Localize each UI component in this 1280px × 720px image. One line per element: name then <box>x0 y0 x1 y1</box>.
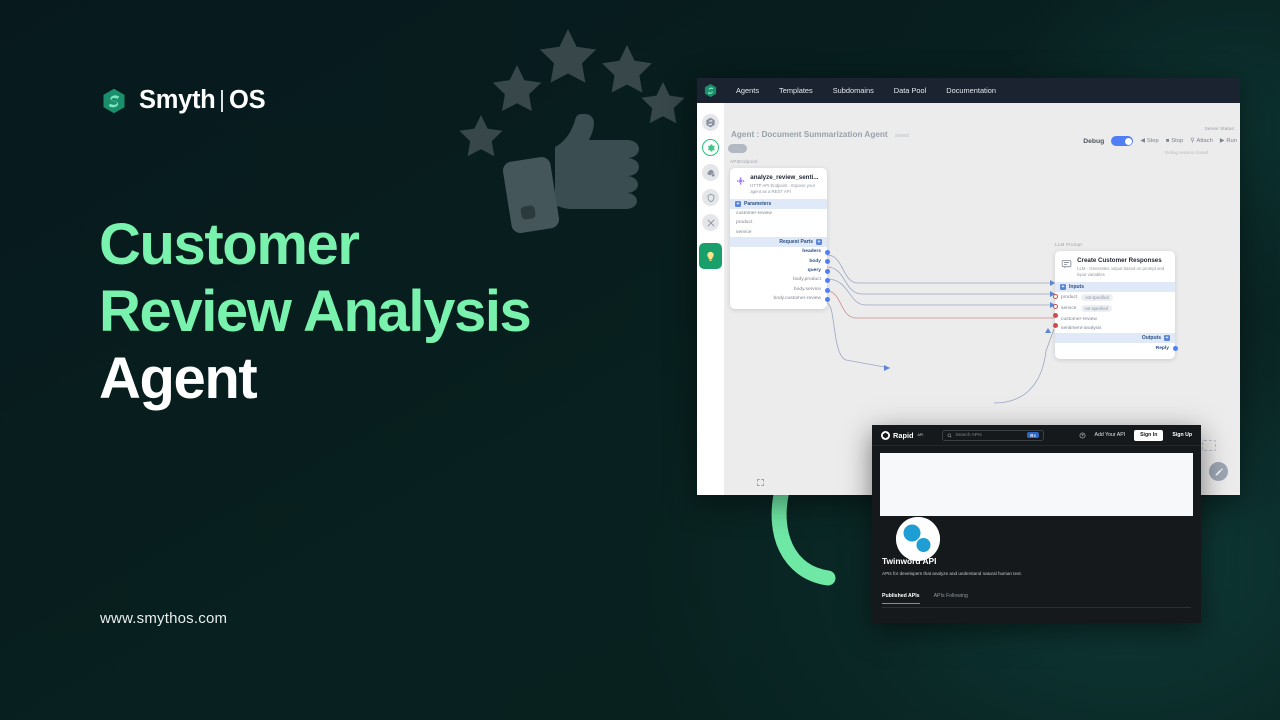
llm-node[interactable]: Create Customer Responses LLM - Generate… <box>1055 251 1175 359</box>
nav-item-documentation[interactable]: Documentation <box>936 86 1006 95</box>
brand-logo-text: Smyth OS <box>139 86 265 115</box>
stop-button[interactable]: ■Stop <box>1166 138 1183 144</box>
brand-logo: Smyth OS <box>100 86 265 115</box>
pen-icon[interactable] <box>1209 462 1228 481</box>
profile-tabs: Published APIs APIs Following <box>882 593 968 604</box>
rail-shield-icon[interactable] <box>702 189 719 206</box>
expand-icon[interactable]: + <box>735 201 741 207</box>
expand-icon[interactable]: + <box>1060 284 1066 290</box>
debug-toolbar: Debug ◀Step ■Stop ⚲Attach ▶Run <box>1083 136 1237 146</box>
rapidapi-logo-icon <box>881 431 890 440</box>
llm-inputs-section[interactable]: + Inputs <box>1055 282 1175 292</box>
search-shortcut-badge: ⌘K <box>1027 432 1040 438</box>
search-placeholder: Search APIs <box>955 433 981 438</box>
endpoint-request-parts-label: Request Parts <box>779 239 813 245</box>
llm-prompt-icon <box>1061 257 1072 271</box>
page-title: Twinword API <box>882 556 936 566</box>
endpoint-part-body-product: body.product <box>730 275 827 284</box>
endpoint-request-parts-section[interactable]: Request Parts + <box>730 237 827 247</box>
tab-apis-following[interactable]: APIs Following <box>934 593 968 604</box>
slide-canvas: Smyth OS Agents <box>0 0 1280 720</box>
page-title: Customer Review Analysis Agent <box>99 212 719 413</box>
endpoint-node-category: APIEndpoint <box>730 159 758 164</box>
endpoint-param-customer-review: customer-review <box>730 209 827 218</box>
port-body-service[interactable] <box>825 288 830 293</box>
port-llm-sentiment[interactable] <box>1053 323 1058 328</box>
tabs-divider <box>882 607 1191 608</box>
headline-line-2: Review Analysis <box>99 279 719 346</box>
expand-icon[interactable]: + <box>816 239 822 245</box>
nav-item-agents[interactable]: Agents <box>726 86 769 95</box>
llm-outputs-section[interactable]: Outputs + <box>1055 333 1175 343</box>
rapidapi-top-nav: Rapid API Search APIs ⌘K Add Your API Si… <box>872 425 1201 446</box>
llm-node-header: Create Customer Responses LLM - Generate… <box>1055 251 1175 282</box>
help-circle-icon[interactable] <box>1079 432 1086 439</box>
server-status-label: Server Status: <box>1205 127 1235 132</box>
llm-input-service: service not specified <box>1055 303 1175 314</box>
brand-name-primary: Smyth <box>139 86 215 115</box>
smythos-logo-icon <box>703 83 718 98</box>
agent-title: Agent : Document Summarization Agent <box>731 130 888 139</box>
port-headers[interactable] <box>825 250 830 255</box>
profile-banner <box>880 453 1193 516</box>
endpoint-part-body-service: body.service <box>730 284 827 293</box>
rapidapi-logo[interactable]: Rapid API <box>881 431 923 440</box>
brand-name-secondary: OS <box>229 86 265 115</box>
rail-cloud-settings-icon[interactable] <box>702 164 719 181</box>
attach-button[interactable]: ⚲Attach <box>1190 138 1213 144</box>
endpoint-part-body-customer-review: body.customer-review <box>730 294 827 303</box>
endpoint-part-headers: headers <box>730 247 827 256</box>
twinword-avatar-icon <box>896 517 940 561</box>
smythos-logo-icon <box>100 87 128 115</box>
llm-input-sentiment-analysis: sentiment-analysis <box>1055 324 1175 333</box>
llm-input-service-badge: not specified <box>1081 305 1113 312</box>
port-query[interactable] <box>825 269 830 274</box>
nav-item-subdomains[interactable]: Subdomains <box>823 86 884 95</box>
expand-icon[interactable]: + <box>1164 335 1170 341</box>
nav-item-templates[interactable]: Templates <box>769 86 823 95</box>
agent-title-bar: Agent : Document Summarization Agent sav… <box>731 130 909 139</box>
endpoint-param-product: product <box>730 218 827 227</box>
endpoint-node-header: analyze_review_senti... HTTP API Endpoin… <box>730 168 827 199</box>
endpoint-parameters-section[interactable]: + Parameters <box>730 199 827 209</box>
search-input[interactable]: Search APIs ⌘K <box>942 430 1044 441</box>
port-llm-customer-review[interactable] <box>1053 313 1058 318</box>
debug-toggle[interactable] <box>1111 136 1133 146</box>
endpoint-node[interactable]: analyze_review_senti... HTTP API Endpoin… <box>730 168 827 309</box>
llm-inputs-label: Inputs <box>1069 284 1084 290</box>
llm-inputs-list: product not specified service not specif… <box>1055 292 1175 334</box>
llm-outputs-label: Outputs <box>1142 335 1161 341</box>
rapidapi-nav-actions: Add Your API Sign In Sign Up <box>1079 430 1192 441</box>
llm-input-product: product not specified <box>1055 292 1175 303</box>
brand-divider <box>221 90 223 112</box>
rapidapi-logo-sup: API <box>918 433 924 437</box>
agent-toggle-pill[interactable] <box>728 144 747 153</box>
llm-node-title: Create Customer Responses <box>1077 257 1169 265</box>
run-button[interactable]: ▶Run <box>1220 138 1237 144</box>
llm-input-customer-review: customer-review <box>1055 315 1175 324</box>
image-placeholder-icon[interactable] <box>1202 440 1216 451</box>
endpoint-param-service: service <box>730 228 827 237</box>
agent-saved-status: saved <box>895 133 909 139</box>
llm-output-reply: Reply <box>1055 343 1175 352</box>
tab-published-apis[interactable]: Published APIs <box>882 593 920 604</box>
port-llm-service[interactable] <box>1053 304 1058 309</box>
endpoint-part-query: query <box>730 266 827 275</box>
endpoint-node-title: analyze_review_senti... <box>750 174 821 182</box>
search-icon <box>947 433 952 438</box>
rail-gear-icon[interactable] <box>702 139 719 156</box>
llm-input-product-badge: not specified <box>1081 294 1113 301</box>
app-top-nav: Agents Templates Subdomains Data Pool Do… <box>697 78 1240 103</box>
profile-description: APIs for developers that analyze and und… <box>882 571 1022 576</box>
rapidapi-window: Rapid API Search APIs ⌘K Add Your API Si… <box>872 425 1201 623</box>
add-your-api-link[interactable]: Add Your API <box>1095 432 1126 438</box>
site-url: www.smythos.com <box>100 610 227 627</box>
headline-line-1: Customer <box>99 212 719 279</box>
endpoint-part-body: body <box>730 256 827 265</box>
rail-smythos-logo-icon[interactable] <box>702 114 719 131</box>
llm-node-category: LLM Prompt <box>1055 242 1082 247</box>
debug-label: Debug <box>1083 138 1104 145</box>
fit-to-screen-icon[interactable] <box>756 478 765 487</box>
endpoint-parameters-label: Parameters <box>744 201 771 207</box>
llm-node-subtitle: LLM - Generates output based on prompt a… <box>1077 266 1169 278</box>
sign-up-button[interactable]: Sign Up <box>1172 432 1192 438</box>
endpoint-node-subtitle: HTTP API Endpoint - Expose your agent as… <box>750 183 821 195</box>
api-endpoint-icon <box>736 174 745 188</box>
avatar <box>896 517 940 561</box>
sign-in-button[interactable]: Sign In <box>1134 430 1163 441</box>
headline-line-3: Agent <box>99 346 719 413</box>
port-llm-product[interactable] <box>1053 294 1058 299</box>
endpoint-request-parts-list: headers body query body.product body.ser… <box>730 247 827 303</box>
step-button[interactable]: ◀Step <box>1140 138 1158 144</box>
port-reply[interactable] <box>1173 346 1178 351</box>
rapidapi-logo-text: Rapid <box>893 431 914 440</box>
nav-item-data-pool[interactable]: Data Pool <box>884 86 936 95</box>
